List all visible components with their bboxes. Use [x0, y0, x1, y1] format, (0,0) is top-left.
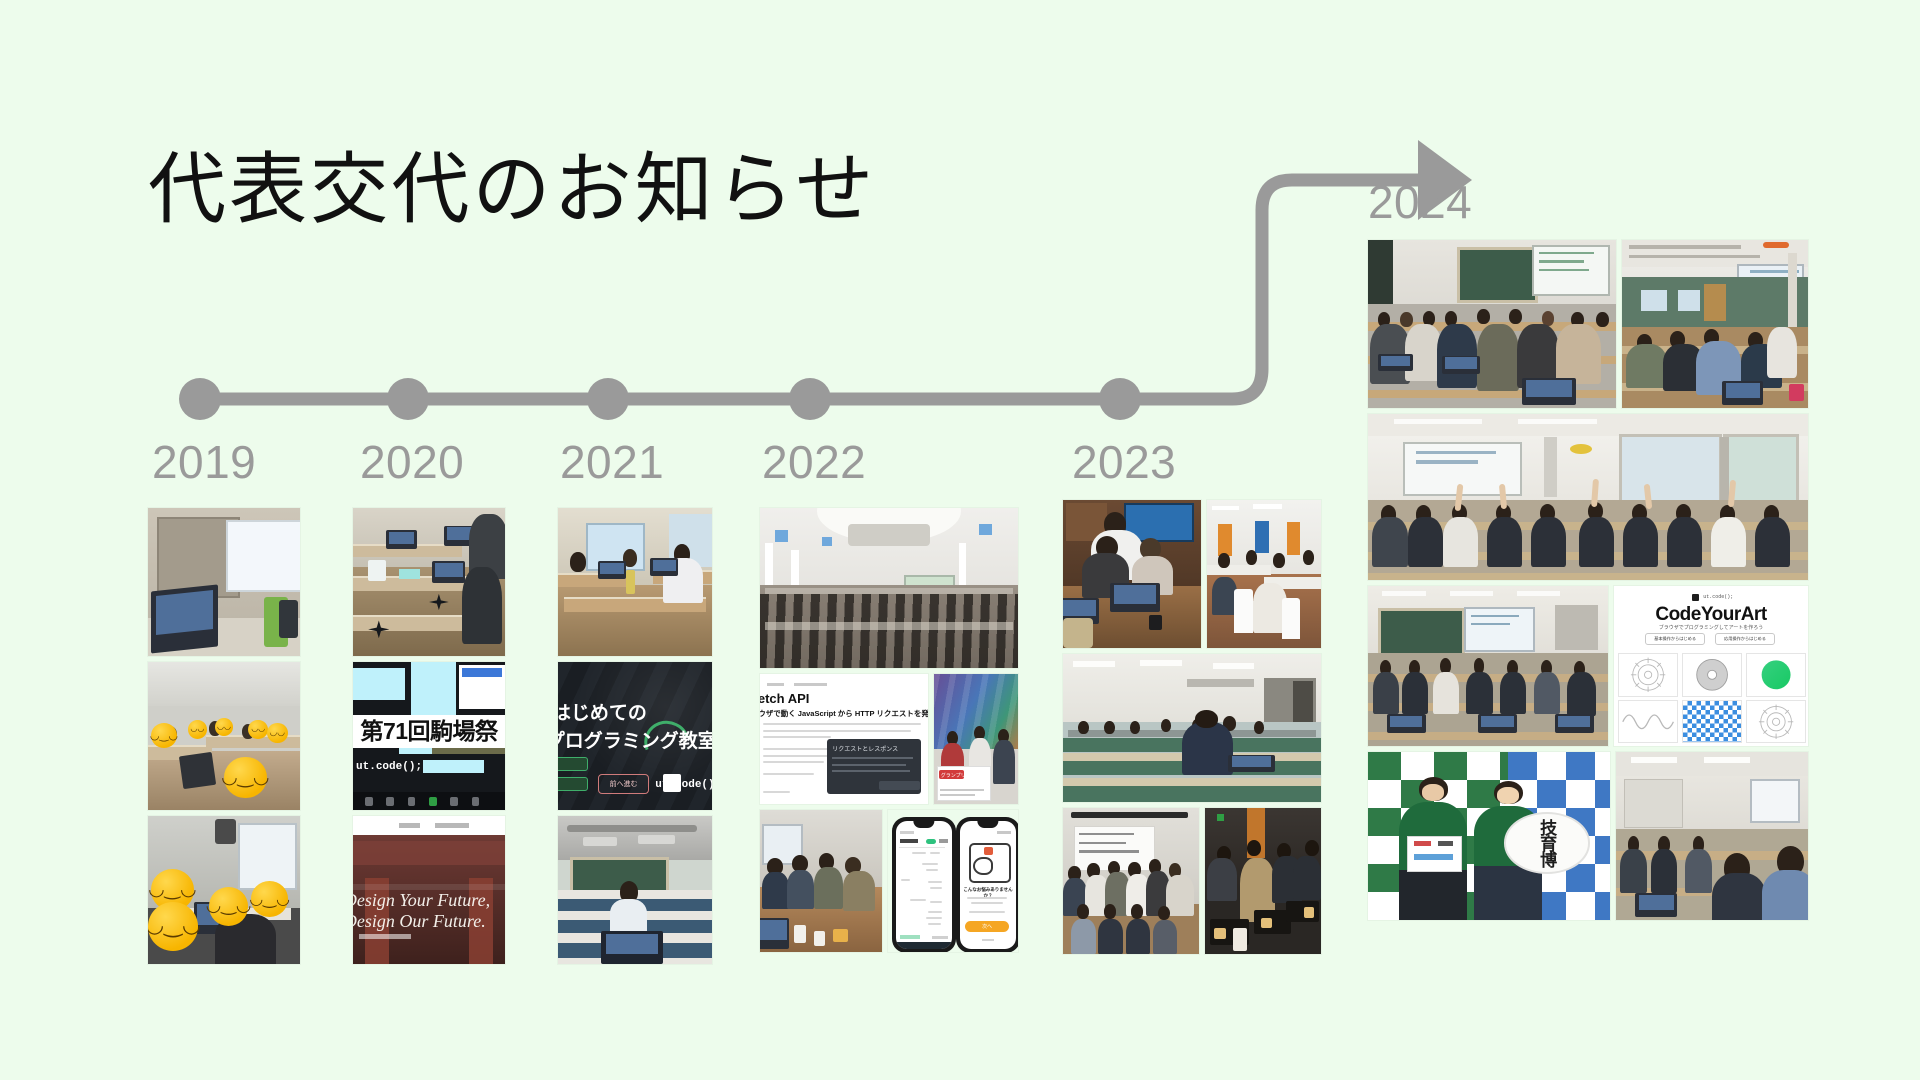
photo-brand-label: ut.code(); — [1703, 594, 1733, 600]
art-tile-spirograph-1 — [1618, 653, 1678, 697]
photo-caption-line2: Design Our Future. — [353, 911, 486, 932]
photo-button-advanced[interactable]: 応用操作からはじめる — [1715, 633, 1775, 645]
photo-2022-app-screens: こんなお悩みありませんか？ 次へ — [888, 810, 1018, 952]
year-label-2021: 2021 — [560, 435, 664, 489]
emoji-face-icon: ◡‿◡ — [251, 881, 287, 917]
photo-2022-large-lecture-hall — [760, 508, 1018, 668]
emoji-face-icon: ◡◡ — [248, 720, 268, 739]
photo-column-2019: ◡‿◡ ◡◡ ◡◡ ◡◡ ◡◡ ◡‿◡ ◡‿◡ ◡‿◡ ◡‿◡ ◡‿◡ — [148, 508, 300, 964]
photo-badge-label: グランプリ — [941, 772, 966, 779]
spirograph-icon — [1747, 701, 1805, 743]
photo-caption-line2: プログラミング教室 — [558, 726, 712, 753]
photo-column-2021: はじめての プログラミング教室 前へ進む ut.code(); — [558, 508, 712, 964]
photo-2022-app-screen-list — [892, 817, 956, 952]
year-label-2023: 2023 — [1072, 435, 1176, 489]
photo-2021-study-room — [558, 508, 712, 656]
photo-column-2023 — [1063, 500, 1321, 954]
photo-2024-classroom-projector — [1368, 586, 1608, 746]
emoji-face-icon: ◡‿◡ — [148, 902, 198, 951]
timeline-dot-2023 — [1099, 378, 1141, 420]
emoji-face-icon: ◡◡ — [267, 723, 288, 744]
photo-2021-lecture-hall — [558, 816, 712, 964]
photo-2024-codeyourart-site: ut.code(); CodeYourArt ブラウザでプログラミングしてアート… — [1614, 586, 1808, 746]
photo-caption: 第71回駒場祭 — [353, 715, 505, 748]
photo-2024-hands-raised-class — [1368, 414, 1808, 580]
photo-2024-lab-room — [1622, 240, 1808, 408]
photo-2023-dinner-table — [1205, 808, 1321, 954]
photo-caption-line1: Design Your Future, — [353, 890, 490, 911]
photo-cta-button[interactable]: 前へ進む — [598, 774, 649, 794]
photo-2020-classroom-distanced — [353, 508, 505, 656]
photo-2022-app-onboarding: こんなお悩みありませんか？ 次へ — [956, 817, 1018, 952]
photo-2019-workshop-laptops: ◡‿◡ ◡‿◡ ◡‿◡ ◡‿◡ — [148, 816, 300, 964]
photo-column-2020: 第71回駒場祭 ut.code(); Design Your Future, D… — [353, 508, 505, 964]
emoji-face-icon: ◡‿◡ — [209, 887, 249, 925]
photo-2022-team-dinner — [760, 810, 882, 952]
photo-onboarding-cta-label: 次へ — [965, 923, 1009, 930]
timeline-dot-2021 — [587, 378, 629, 420]
gradient-circle-icon — [1747, 654, 1805, 696]
photo-button-basic[interactable]: 基本操作からはじめる — [1645, 633, 1705, 645]
photo-caption-line1: はじめての — [558, 698, 647, 725]
photo-column-2024: ut.code(); CodeYourArt ブラウザでプログラミングしてアート… — [1368, 240, 1808, 920]
photo-2019-seminar-room: ◡‿◡ ◡◡ ◡◡ ◡◡ ◡◡ ◡‿◡ — [148, 662, 300, 810]
photo-2023-group-whiteboard — [1063, 808, 1199, 954]
photo-2022-grand-prix: グランプリ — [934, 674, 1018, 804]
emoji-face-icon: ◡‿◡ — [224, 757, 267, 798]
year-label-2020: 2020 — [360, 435, 464, 489]
photo-2019-classroom-monitor — [148, 508, 300, 656]
photo-panel-title: リクエストとレスポンス — [832, 744, 898, 753]
wave-icon — [1619, 701, 1677, 743]
photo-brand-label: ut.code(); — [655, 779, 712, 791]
photo-caption: CodeYourArt — [1614, 604, 1808, 626]
art-tile-blue-pattern — [1682, 700, 1742, 744]
timeline-dot-2022 — [789, 378, 831, 420]
year-label-2024: 2024 — [1368, 175, 1472, 229]
page-title: 代表交代のお知らせ — [148, 150, 877, 228]
photo-2020-design-your-future: Design Your Future, Design Our Future. — [353, 816, 505, 964]
year-label-2022: 2022 — [762, 435, 866, 489]
photo-2023-auditorium — [1063, 654, 1321, 802]
photo-subtitle: ブラウザで動く JavaScript から HTTP リクエストを発行する — [760, 708, 928, 719]
ring-icon — [1683, 654, 1741, 696]
art-tile-wave — [1618, 700, 1678, 744]
art-tile-ring — [1682, 653, 1742, 697]
photo-2022-fetch-api-article: Fetch API ブラウザで動く JavaScript から HTTP リクエ… — [760, 674, 928, 804]
photo-2024-classroom-presentation — [1616, 752, 1808, 920]
photo-column-2022: Fetch API ブラウザで動く JavaScript から HTTP リクエ… — [760, 508, 1018, 952]
photo-caption: Fetch API — [760, 691, 809, 706]
award-plaque: 技育博 — [1504, 812, 1590, 873]
timeline-dot-2020 — [387, 378, 429, 420]
art-tile-green-circle — [1746, 653, 1806, 697]
photo-2021-programming-class-slide: はじめての プログラミング教室 前へ進む ut.code(); — [558, 662, 712, 810]
photo-2020-komabasai-slide: 第71回駒場祭 ut.code(); — [353, 662, 505, 810]
photo-brand-label: ut.code(); — [356, 761, 422, 773]
photo-2024-award-ceremony: 技育博 — [1368, 752, 1610, 920]
award-plaque-label: 技育博 — [1534, 819, 1559, 867]
photo-2023-mentoring — [1063, 500, 1201, 648]
photo-subtitle: ブラウザでプログラミングしてアートを作ろう — [1614, 624, 1808, 631]
emoji-face-icon: ◡◡ — [188, 720, 208, 739]
emoji-face-icon: ◡‿◡ — [151, 723, 177, 748]
emoji-face-icon: ◡◡ — [215, 718, 233, 736]
year-label-2019: 2019 — [152, 435, 256, 489]
photo-2023-open-office — [1207, 500, 1321, 648]
timeline-dot-2019 — [179, 378, 221, 420]
art-tile-spirograph-2 — [1746, 700, 1806, 744]
photo-2024-lecture-green-board — [1368, 240, 1616, 408]
spirograph-icon — [1619, 654, 1677, 696]
